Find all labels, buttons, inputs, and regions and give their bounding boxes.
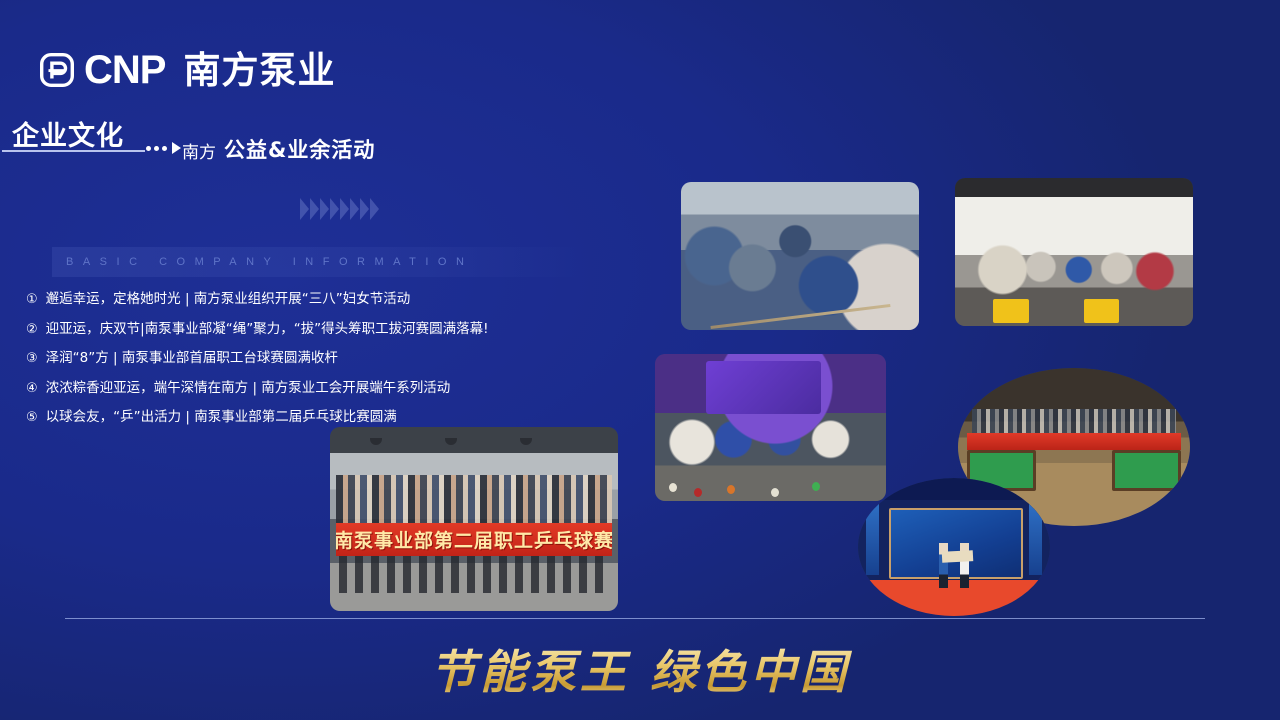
three-dots-icon — [154, 146, 159, 151]
brand-name-cn: 南方泵业 — [183, 52, 335, 89]
brand-logo: CNP 南方泵业 — [40, 50, 335, 90]
photo-party — [655, 354, 886, 501]
activity-list: ① 邂逅幸运，定格她时光 | 南方泵业组织开展“三八”妇女节活动 ② 迎亚运，庆… — [26, 290, 606, 438]
watermark-text: BASIC COMPANY INFORMATION — [66, 256, 473, 268]
list-item: ④ 浓浓粽香迎亚运，端午深情在南方 | 南方泵业工会开展端午系列活动 — [26, 379, 606, 398]
footer-divider — [65, 618, 1205, 619]
list-item-number: ② — [26, 321, 38, 339]
list-item-label: 浓浓粽香迎亚运，端午深情在南方 | 南方泵业工会开展端午系列活动 — [46, 379, 451, 397]
chevron-arrows-icon — [300, 198, 379, 220]
list-item: ⑤ 以球会友，“乒”出活力 | 南泵事业部第二届乒乓球比赛圆满 — [26, 408, 606, 427]
three-dots-icon — [162, 146, 167, 151]
page-title: 企业文化 — [12, 114, 124, 153]
brand-acronym: CNP — [84, 50, 165, 90]
list-item-label: 泽润“8”方 | 南泵事业部首届职工台球赛圆满收杆 — [46, 349, 338, 367]
title-underline — [2, 150, 145, 152]
play-triangle-icon — [172, 142, 181, 154]
ping-pong-banner-text: 南泵事业部第二届职工乒乓球赛 — [336, 526, 612, 553]
photo-award-ceremony — [858, 478, 1050, 616]
watermark-band: BASIC COMPANY INFORMATION — [52, 247, 588, 277]
list-item: ① 邂逅幸运，定格她时光 | 南方泵业组织开展“三八”妇女节活动 — [26, 290, 606, 309]
list-item-number: ④ — [26, 380, 38, 398]
photo-ping-pong-group: 南泵事业部第二届职工乒乓球赛 — [330, 427, 618, 611]
list-item-label: 邂逅幸运，定格她时光 | 南方泵业组织开展“三八”妇女节活动 — [46, 290, 411, 308]
list-item-label: 迎亚运，庆双节|南泵事业部凝“绳”聚力，“拔”得头筹职工拔河赛圆满落幕! — [46, 320, 489, 338]
brand-short-label: 南方 — [182, 138, 216, 163]
list-item: ② 迎亚运，庆双节|南泵事业部凝“绳”聚力，“拔”得头筹职工拔河赛圆满落幕! — [26, 320, 606, 339]
cnp-pump-logo-icon — [40, 53, 74, 87]
three-dots-icon — [146, 146, 151, 151]
photo-tug-of-war — [681, 182, 919, 330]
title-arrow-group — [146, 142, 181, 154]
footer-slogan: 节能泵王 绿色中国 — [0, 636, 1280, 702]
section-subtitle: 公益&业余活动 — [224, 134, 375, 164]
slide-root: CNP 南方泵业 企业文化 南方 公益&业余活动 BASIC COMPANY I… — [0, 0, 1280, 720]
list-item-number: ① — [26, 291, 38, 309]
list-item-label: 以球会友，“乒”出活力 | 南泵事业部第二届乒乓球比赛圆满 — [46, 408, 397, 426]
photo-canteen — [955, 178, 1193, 326]
list-item: ③ 泽润“8”方 | 南泵事业部首届职工台球赛圆满收杆 — [26, 349, 606, 368]
list-item-number: ⑤ — [26, 409, 38, 427]
list-item-number: ③ — [26, 350, 38, 368]
